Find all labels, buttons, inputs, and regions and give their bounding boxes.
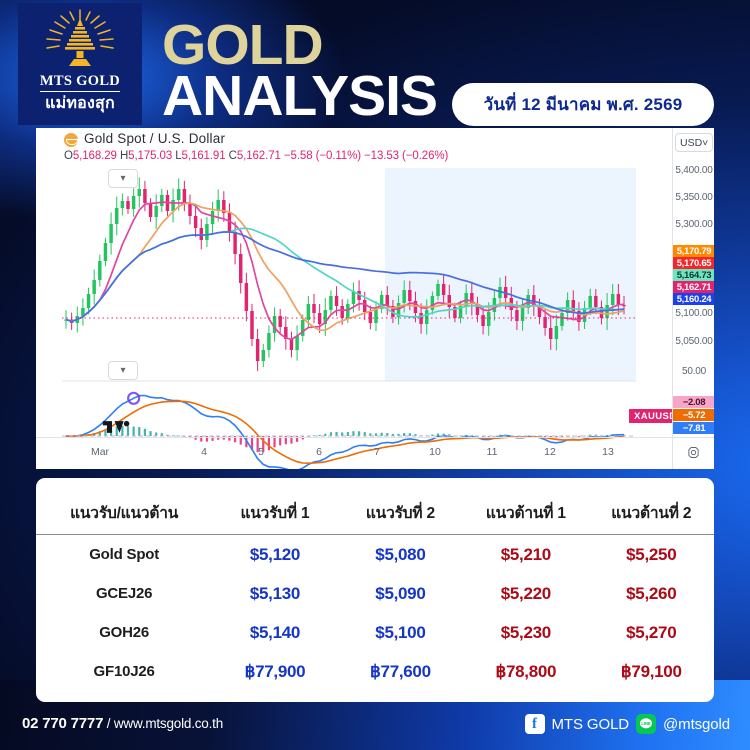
ohlc-close-value: 5,162.71 (237, 150, 281, 162)
table-head: แนวรับ/แนวต้าน แนวรับที่ 1 แนวรับที่ 2 แ… (36, 478, 714, 535)
time-tick: Mar (91, 446, 109, 458)
price-pill: 5,170.65 (673, 257, 714, 269)
time-tick: 4 (201, 446, 207, 458)
currency-select[interactable]: USD ˅ (675, 133, 713, 152)
ohlc-open-key: O (64, 150, 73, 162)
date-badge: วันที่ 12 มีนาคม พ.ศ. 2569 (452, 83, 714, 126)
row-support-1: ฿77,900 (212, 652, 337, 691)
row-resistance-2: $5,250 (589, 535, 714, 575)
separator: / (103, 716, 114, 731)
chevron-down-icon: ˅ (702, 137, 708, 149)
time-tick: 5 (258, 446, 264, 458)
price-scale: USD ˅ 5,400.00 5,350.00 5,300.00 5,170.7… (672, 128, 714, 469)
brand-logo: MTS GOLD แม่ทองสุก (18, 3, 142, 125)
table-header-row: แนวรับ/แนวต้าน แนวรับที่ 1 แนวรับที่ 2 แ… (36, 478, 714, 535)
row-resistance-1: $5,220 (463, 574, 588, 613)
table-header-cell: แนวต้านที่ 2 (589, 478, 714, 535)
facebook-label[interactable]: MTS GOLD (552, 716, 630, 733)
website-url[interactable]: www.mtsgold.co.th (114, 716, 223, 731)
price-tick: 5,100.00 (673, 308, 714, 319)
page-footer: 02 770 7777 / www.mtsgold.co.th f MTS GO… (0, 702, 750, 750)
gold-coin-icon (64, 133, 78, 147)
price-tick: 5,400.00 (673, 165, 714, 176)
chart-panel: Gold Spot / U.S. Dollar O5,168.29 H5,175… (36, 128, 714, 469)
price-tick: 5,050.00 (673, 336, 714, 347)
row-resistance-2: $5,260 (589, 574, 714, 613)
time-tick: 12 (544, 446, 556, 458)
clock-settings-icon[interactable] (682, 443, 704, 461)
row-resistance-2: ฿79,100 (589, 652, 714, 691)
chart-plot-area[interactable] (62, 168, 636, 469)
price-pill: 5,170.79 (673, 245, 714, 257)
time-tick: 6 (316, 446, 322, 458)
row-support-2: $5,090 (338, 574, 463, 613)
ohlc-high-key: H (120, 150, 128, 162)
row-support-1: $5,130 (212, 574, 337, 613)
row-instrument: GCEJ26 (36, 574, 212, 613)
table-row: GCEJ26 $5,130 $5,090 $5,220 $5,260 (36, 574, 714, 613)
macd-pill: −2.08 (673, 396, 714, 408)
line-label[interactable]: @mtsgold (663, 716, 730, 733)
phone-number: 02 770 7777 (22, 715, 103, 732)
time-tick: 13 (602, 446, 614, 458)
currency-select-value: USD (680, 137, 702, 149)
ohlc-high-value: 5,175.03 (128, 150, 172, 162)
chart-header: Gold Spot / U.S. Dollar O5,168.29 H5,175… (36, 128, 714, 168)
table-body: Gold Spot $5,120 $5,080 $5,210 $5,250 GC… (36, 535, 714, 692)
time-tick: 11 (487, 446, 498, 458)
ohlc-change-secondary: −13.53 (−0.26%) (364, 150, 448, 162)
row-instrument: GF10J26 (36, 652, 212, 691)
price-tick: 5,300.00 (673, 219, 714, 230)
table-header-cell: แนวรับ/แนวต้าน (36, 478, 212, 535)
macd-pill: −7.81 (673, 422, 714, 434)
row-support-2: $5,100 (338, 613, 463, 652)
time-tick: 7 (374, 446, 380, 458)
row-resistance-1: $5,210 (463, 535, 588, 575)
line-icon[interactable]: LINE (636, 714, 656, 734)
svg-text:LINE: LINE (641, 721, 650, 726)
pagoda-icon (36, 9, 124, 73)
price-pill-current: 5,162.71 (673, 281, 714, 293)
table-row: GOH26 $5,140 $5,100 $5,230 $5,270 (36, 613, 714, 652)
table-header-cell: แนวต้านที่ 1 (463, 478, 588, 535)
row-support-1: $5,120 (212, 535, 337, 575)
table-header-cell: แนวรับที่ 1 (212, 478, 337, 535)
price-tick: 5,350.00 (673, 192, 714, 203)
tradingview-logo (102, 419, 132, 435)
time-tick: 10 (429, 446, 441, 458)
chart-symbol-title[interactable]: Gold Spot / U.S. Dollar (84, 131, 225, 146)
table-row: Gold Spot $5,120 $5,080 $5,210 $5,250 (36, 535, 714, 575)
chevron-down-icon[interactable]: ▾ (108, 169, 138, 188)
page-header: MTS GOLD แม่ทองสุก GOLD ANALYSIS วันที่ … (0, 0, 750, 128)
levels-table-panel: แนวรับ/แนวต้าน แนวรับที่ 1 แนวรับที่ 2 แ… (36, 478, 714, 702)
brand-name-thai: แม่ทองสุก (45, 95, 115, 113)
ohlc-close-key: C (229, 150, 237, 162)
table-header-cell: แนวรับที่ 2 (338, 478, 463, 535)
row-instrument: Gold Spot (36, 535, 212, 575)
row-support-1: $5,140 (212, 613, 337, 652)
row-support-2: ฿77,600 (338, 652, 463, 691)
price-pill: 5,160.24 (673, 293, 714, 305)
chart-time-axis: Mar 4 5 6 7 10 11 12 13 (36, 437, 714, 469)
chevron-down-icon[interactable]: ▾ (108, 361, 138, 380)
macd-pill: −5.72 (673, 409, 714, 421)
ohlc-low-value: 5,161.91 (182, 150, 226, 162)
ohlc-change: −5.58 (−0.11%) (284, 150, 361, 162)
row-instrument: GOH26 (36, 613, 212, 652)
social-links: f MTS GOLD LINE @mtsgold (525, 714, 731, 734)
support-resistance-table: แนวรับ/แนวต้าน แนวรับที่ 1 แนวรับที่ 2 แ… (36, 478, 714, 691)
brand-name: MTS GOLD (40, 74, 120, 92)
row-resistance-1: ฿78,800 (463, 652, 588, 691)
price-pill: 5,164.73 (673, 269, 714, 281)
row-resistance-1: $5,230 (463, 613, 588, 652)
row-resistance-2: $5,270 (589, 613, 714, 652)
row-support-2: $5,080 (338, 535, 463, 575)
page-title-secondary: ANALYSIS (162, 68, 437, 125)
table-row: GF10J26 ฿77,900 ฿77,600 ฿78,800 ฿79,100 (36, 652, 714, 691)
ohlc-open-value: 5,168.29 (73, 150, 117, 162)
facebook-icon[interactable]: f (525, 714, 545, 734)
ohlc-readout: O5,168.29 H5,175.03 L5,161.91 C5,162.71 … (64, 150, 448, 162)
contact-info: 02 770 7777 / www.mtsgold.co.th (22, 715, 223, 732)
macd-scale-tick: 50.00 (673, 366, 714, 377)
chart-svg (62, 168, 636, 469)
